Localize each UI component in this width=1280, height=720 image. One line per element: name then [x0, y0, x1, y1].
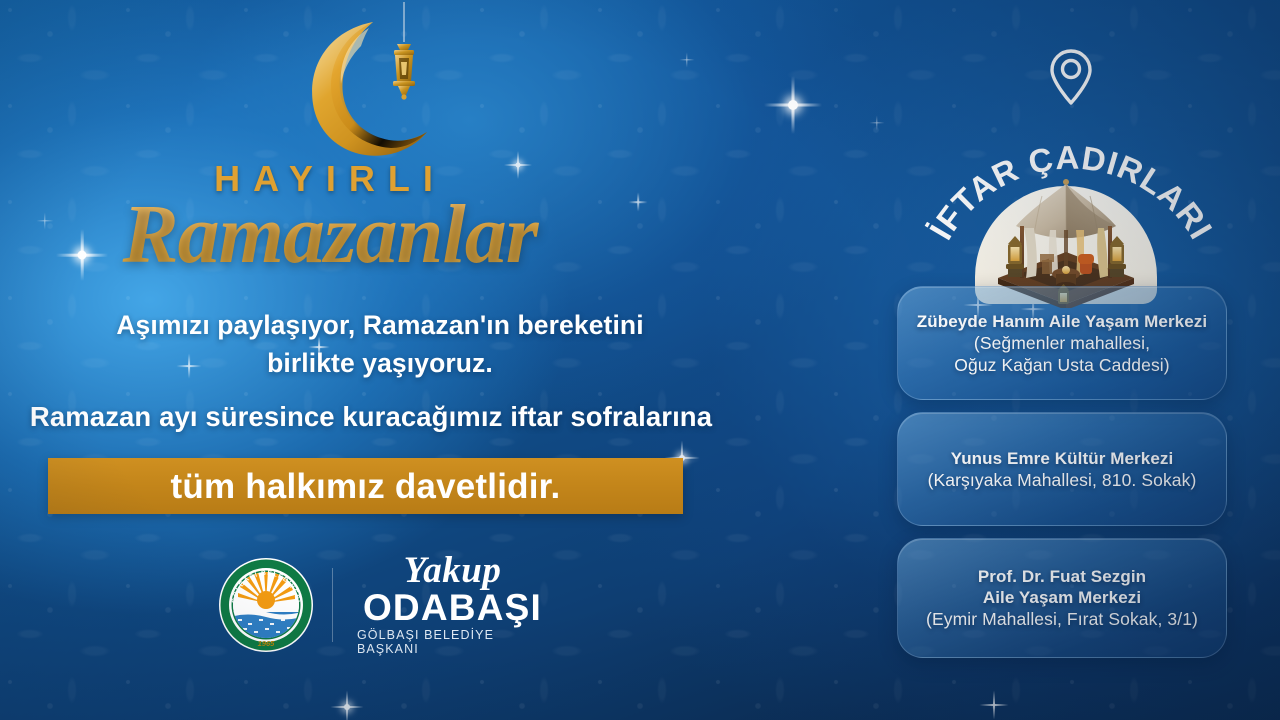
greeting-large: Ramazanlar	[0, 186, 660, 283]
body-copy: Aşımızı paylaşıyor, Ramazan'ın bereketin…	[0, 306, 760, 436]
golbasi-belediyesi-crest-logo: GÖLBAŞI BELEDİYESİ 1965	[218, 557, 314, 653]
location-address-line-2: Oğuz Kağan Usta Caddesi)	[954, 354, 1169, 376]
location-card[interactable]: Zübeyde Hanım Aile Yaşam Merkezi (Seğmen…	[897, 286, 1227, 400]
mayor-role: GÖLBAŞI BELEDİYE BAŞKANI	[357, 628, 548, 656]
location-address-line-1: (Eymir Mahallesi, Fırat Sokak, 3/1)	[926, 608, 1198, 630]
body-line-2: birlikte yaşıyoruz.	[267, 348, 493, 378]
sparkle-star	[763, 75, 823, 135]
sparkle-star	[979, 690, 1009, 720]
signature-divider	[332, 568, 333, 642]
body-line-1: Aşımızı paylaşıyor, Ramazan'ın bereketin…	[116, 310, 643, 340]
sparkle-star	[869, 115, 885, 131]
crest-year: 1965	[258, 639, 276, 648]
mayor-last-name: ODABAŞI	[363, 589, 542, 627]
mayor-first-name: Yakup	[404, 553, 502, 588]
sparkle-star	[330, 690, 364, 720]
location-address-line-1: (Seğmenler mahallesi,	[974, 332, 1150, 354]
municipality-signature-block: GÖLBAŞI BELEDİYESİ 1965 Yakup ODABAŞI GÖ…	[218, 552, 548, 657]
sparkle-star	[679, 52, 695, 68]
invitation-banner-text: tüm halkımız davetlidir.	[171, 469, 561, 504]
location-pin-icon	[1048, 48, 1094, 106]
location-card[interactable]: Prof. Dr. Fuat Sezgin Aile Yaşam Merkezi…	[897, 538, 1227, 658]
hanging-lantern-icon	[375, 2, 433, 120]
location-name: Yunus Emre Kültür Merkezi	[951, 448, 1174, 469]
location-name: Prof. Dr. Fuat Sezgin	[978, 566, 1146, 587]
body-line-3: Ramazan ayı süresince kuracağımız iftar …	[0, 398, 760, 436]
ramadan-poster: HAYIRLI Ramazanlar Aşımızı paylaşıyor, R…	[0, 0, 1280, 720]
location-address-line-1: (Karşıyaka Mahallesi, 810. Sokak)	[928, 469, 1197, 491]
invitation-banner: tüm halkımız davetlidir.	[48, 458, 683, 514]
location-name-line-2: Aile Yaşam Merkezi	[983, 587, 1141, 608]
moon-lantern-decoration	[303, 14, 483, 164]
location-name: Zübeyde Hanım Aile Yaşam Merkezi	[917, 311, 1207, 332]
location-card[interactable]: Yunus Emre Kültür Merkezi (Karşıyaka Mah…	[897, 412, 1227, 526]
mayor-signature: Yakup ODABAŞI GÖLBAŞI BELEDİYE BAŞKANI	[351, 553, 548, 657]
